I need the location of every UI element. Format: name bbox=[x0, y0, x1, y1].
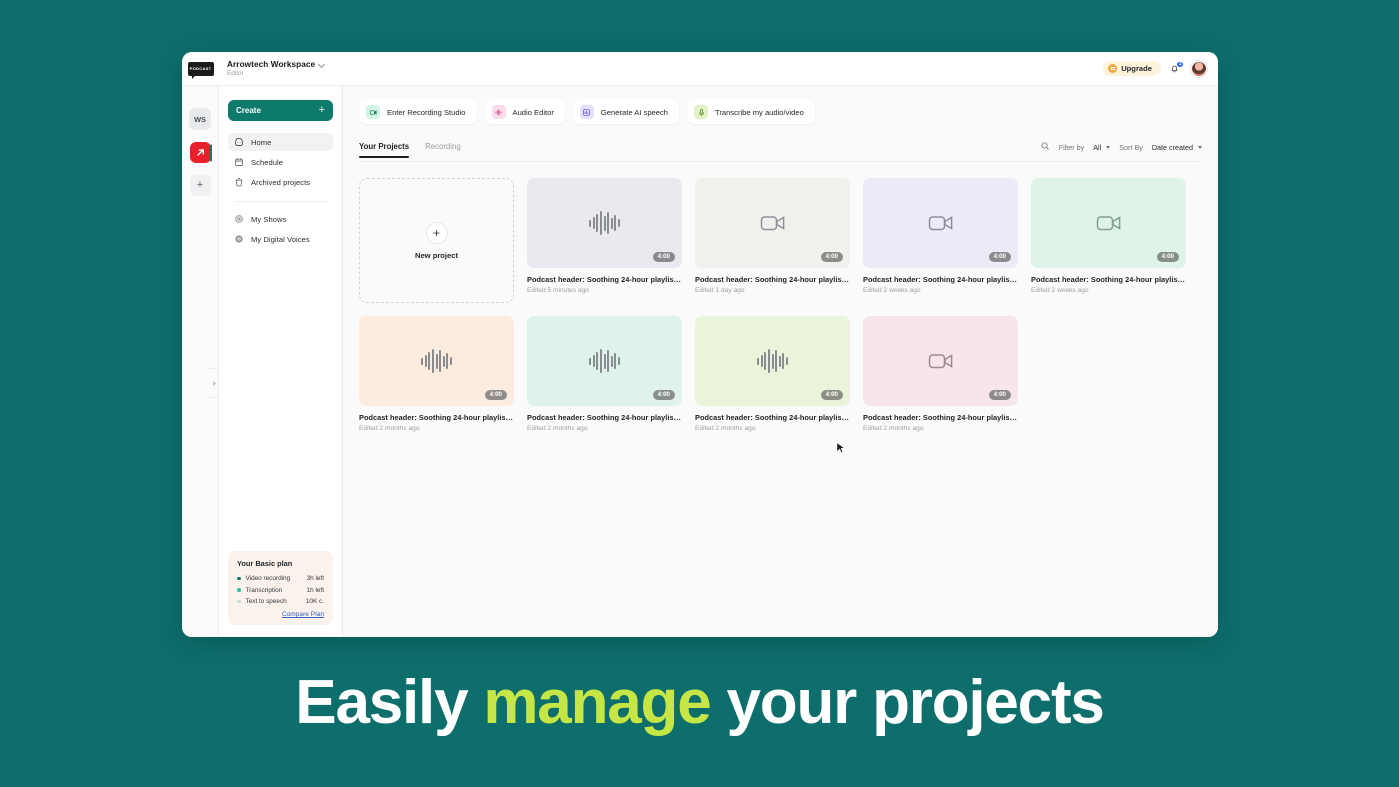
project-card[interactable]: 4:00 Podcast header: Soothing 24-hour pl… bbox=[863, 316, 1018, 432]
project-card[interactable]: 4:00 Podcast header: Soothing 24-hour pl… bbox=[359, 316, 514, 432]
project-duration-badge: 4:00 bbox=[821, 252, 843, 262]
audio-waveform-icon bbox=[589, 210, 620, 236]
project-title: Podcast header: Soothing 24-hour playlis… bbox=[863, 413, 1018, 422]
plan-status-dot bbox=[237, 588, 241, 592]
quick-actions-row: Enter Recording Studio Audio Editor bbox=[359, 100, 1202, 124]
upgrade-icon bbox=[1108, 64, 1117, 73]
podcast-logo: PODCAST bbox=[188, 62, 214, 76]
microphone-icon bbox=[694, 105, 708, 119]
video-camera-icon bbox=[1096, 214, 1122, 232]
rail-add-workspace-button[interactable]: + bbox=[190, 175, 211, 196]
plan-value: 3h left bbox=[307, 575, 324, 582]
plan-row: Text to speech 10K c. bbox=[237, 598, 324, 605]
quick-action-label: Generate AI speech bbox=[601, 108, 668, 117]
projects-grid: + New project 4:00 Podcast header: Sooth… bbox=[359, 178, 1202, 432]
filter-by-select[interactable]: All bbox=[1093, 143, 1110, 152]
tab-recording[interactable]: Recording bbox=[425, 142, 461, 157]
shows-icon bbox=[234, 214, 244, 224]
audio-waveform-icon bbox=[421, 348, 452, 374]
project-duration-badge: 4:00 bbox=[989, 390, 1011, 400]
quick-action-label: Audio Editor bbox=[513, 108, 554, 117]
sidebar-item-label: My Shows bbox=[251, 215, 286, 224]
video-camera-icon bbox=[928, 352, 954, 370]
project-thumbnail: 4:00 bbox=[359, 316, 514, 406]
plus-icon: + bbox=[319, 105, 325, 116]
workspace-switcher[interactable]: Arrowtech Workspace Editor bbox=[219, 60, 325, 77]
project-edited-time: Edited 2 months ago bbox=[359, 425, 514, 432]
rail-app-arrowtech[interactable] bbox=[190, 142, 211, 163]
project-duration-badge: 4:00 bbox=[485, 390, 507, 400]
plan-row: Video recording 3h left bbox=[237, 575, 324, 582]
sidebar-item-label: Schedule bbox=[251, 158, 283, 167]
notification-badge: 1 bbox=[1176, 61, 1184, 68]
plan-title: Your Basic plan bbox=[237, 559, 324, 568]
tagline-part1: Easily bbox=[295, 668, 483, 737]
plus-icon: + bbox=[426, 222, 448, 244]
main-content: Enter Recording Studio Audio Editor bbox=[343, 86, 1218, 637]
sidebar-item-label: My Digital Voices bbox=[251, 235, 310, 244]
sidebar-item-my-shows[interactable]: My Shows bbox=[228, 210, 333, 228]
sidebar-divider bbox=[234, 201, 327, 202]
project-thumbnail: 4:00 bbox=[863, 316, 1018, 406]
quick-action-generate-ai-speech[interactable]: Generate AI speech bbox=[573, 100, 679, 124]
project-thumbnail: 4:00 bbox=[695, 316, 850, 406]
project-edited-time: Edited 2 months ago bbox=[527, 425, 682, 432]
project-thumbnail: 4:00 bbox=[527, 178, 682, 268]
sort-by-label: Sort By bbox=[1119, 143, 1143, 152]
audio-waveform-icon bbox=[492, 105, 506, 119]
calendar-icon bbox=[234, 157, 244, 167]
audio-waveform-icon bbox=[757, 348, 788, 374]
rail-active-indicator bbox=[210, 144, 212, 161]
sort-by-value: Date created bbox=[1152, 143, 1193, 152]
audio-waveform-icon bbox=[589, 348, 620, 374]
sidebar-item-schedule[interactable]: Schedule bbox=[228, 153, 333, 171]
project-title: Podcast header: Soothing 24-hour playlis… bbox=[1031, 275, 1186, 284]
project-card[interactable]: 4:00 Podcast header: Soothing 24-hour pl… bbox=[527, 178, 682, 303]
project-card[interactable]: 4:00 Podcast header: Soothing 24-hour pl… bbox=[527, 316, 682, 432]
chevron-down-icon[interactable] bbox=[319, 62, 325, 68]
project-thumbnail: 4:00 bbox=[863, 178, 1018, 268]
notifications-button[interactable]: 1 bbox=[1169, 62, 1183, 76]
archive-icon bbox=[234, 177, 244, 187]
create-label: Create bbox=[236, 106, 261, 115]
brand-logo-slot: PODCAST bbox=[182, 52, 219, 86]
new-project-label: New project bbox=[415, 251, 458, 260]
project-title: Podcast header: Soothing 24-hour playlis… bbox=[359, 413, 514, 422]
quick-action-label: Enter Recording Studio bbox=[387, 108, 466, 117]
project-card[interactable]: 4:00 Podcast header: Soothing 24-hour pl… bbox=[695, 178, 850, 303]
sidebar-item-my-digital-voices[interactable]: My Digital Voices bbox=[228, 230, 333, 248]
plan-status-dot bbox=[237, 577, 241, 581]
sidebar-item-home[interactable]: Home bbox=[228, 133, 333, 151]
podcast-logo-text: PODCAST bbox=[190, 67, 212, 71]
project-card[interactable]: 4:00 Podcast header: Soothing 24-hour pl… bbox=[1031, 178, 1186, 303]
voice-icon bbox=[234, 234, 244, 244]
app-window: PODCAST Arrowtech Workspace Editor Upgra… bbox=[182, 52, 1218, 637]
filter-by-label: Filter by bbox=[1059, 143, 1085, 152]
user-avatar[interactable] bbox=[1191, 61, 1207, 77]
sidebar-item-label: Home bbox=[251, 138, 271, 147]
plan-label: Transcription bbox=[246, 587, 283, 594]
project-thumbnail: 4:00 bbox=[1031, 178, 1186, 268]
sidebar-collapse-handle[interactable] bbox=[208, 368, 219, 398]
upgrade-button[interactable]: Upgrade bbox=[1103, 61, 1161, 76]
filter-by-value: All bbox=[1093, 143, 1101, 152]
tagline-highlight: manage bbox=[483, 668, 710, 737]
sidebar-item-label: Archived projects bbox=[251, 178, 310, 187]
create-button[interactable]: Create + bbox=[228, 100, 333, 121]
project-edited-time: Edited 2 weeks ago bbox=[863, 287, 1018, 294]
icon-rail: WS + bbox=[182, 86, 219, 637]
chevron-down-icon bbox=[1198, 146, 1202, 149]
rail-workspace-avatar[interactable]: WS bbox=[189, 108, 211, 130]
project-title: Podcast header: Soothing 24-hour playlis… bbox=[527, 275, 682, 284]
tagline-part2: your projects bbox=[711, 668, 1104, 737]
plan-label: Text to speech bbox=[246, 598, 287, 605]
project-thumbnail: 4:00 bbox=[695, 178, 850, 268]
project-edited-time: Edited 2 months ago bbox=[863, 425, 1018, 432]
search-icon[interactable] bbox=[1040, 138, 1050, 156]
tagline: Easily manage your projects bbox=[0, 672, 1399, 734]
sidebar-item-archived-projects[interactable]: Archived projects bbox=[228, 173, 333, 191]
video-camera-icon bbox=[928, 214, 954, 232]
top-bar: PODCAST Arrowtech Workspace Editor Upgra… bbox=[182, 52, 1218, 86]
app-body: WS + Create + bbox=[182, 86, 1218, 637]
project-edited-time: Edited 1 day ago bbox=[695, 287, 850, 294]
plan-row: Transcription 1h left bbox=[237, 587, 324, 594]
project-title: Podcast header: Soothing 24-hour playlis… bbox=[695, 413, 850, 422]
compare-plan-link[interactable]: Compare Plan bbox=[237, 611, 324, 618]
top-bar-actions: Upgrade 1 bbox=[1103, 61, 1218, 77]
project-title: Podcast header: Soothing 24-hour playlis… bbox=[863, 275, 1018, 284]
tab-your-projects[interactable]: Your Projects bbox=[359, 142, 409, 157]
project-duration-badge: 4:00 bbox=[821, 390, 843, 400]
project-duration-badge: 4:00 bbox=[989, 252, 1011, 262]
project-title: Podcast header: Soothing 24-hour playlis… bbox=[527, 413, 682, 422]
workspace-role: Editor bbox=[227, 70, 325, 77]
project-thumbnail: 4:00 bbox=[527, 316, 682, 406]
sidebar: Create + Home bbox=[219, 86, 343, 637]
project-title: Podcast header: Soothing 24-hour playlis… bbox=[695, 275, 850, 284]
mouse-cursor bbox=[836, 442, 846, 455]
project-edited-time: Edited 2 months ago bbox=[695, 425, 850, 432]
project-card[interactable]: 4:00 Podcast header: Soothing 24-hour pl… bbox=[863, 178, 1018, 303]
plan-label: Video recording bbox=[246, 575, 291, 582]
project-edited-time: Edited 5 minutes ago bbox=[527, 287, 682, 294]
video-camera-icon bbox=[760, 214, 786, 232]
quick-action-transcribe-my-audio-video[interactable]: Transcribe my audio/video bbox=[687, 100, 815, 124]
ai-speech-icon bbox=[580, 105, 594, 119]
toolbar: Filter by All Sort By Date created bbox=[1040, 138, 1202, 161]
quick-action-audio-editor[interactable]: Audio Editor bbox=[485, 100, 565, 124]
arrow-up-right-icon bbox=[195, 147, 206, 158]
quick-action-label: Transcribe my audio/video bbox=[715, 108, 804, 117]
plan-card: Your Basic plan Video recording 3h left … bbox=[228, 551, 333, 625]
project-duration-badge: 4:00 bbox=[653, 252, 675, 262]
project-duration-badge: 4:00 bbox=[1157, 252, 1179, 262]
new-project-card[interactable]: + New project bbox=[359, 178, 514, 303]
plan-value: 10K c. bbox=[306, 598, 324, 605]
project-card[interactable]: 4:00 Podcast header: Soothing 24-hour pl… bbox=[695, 316, 850, 432]
sort-by-select[interactable]: Date created bbox=[1152, 143, 1202, 152]
project-duration-badge: 4:00 bbox=[653, 390, 675, 400]
quick-action-enter-recording-studio[interactable]: Enter Recording Studio bbox=[359, 100, 477, 124]
plan-status-dot bbox=[237, 600, 241, 604]
video-camera-icon bbox=[366, 105, 380, 119]
home-icon bbox=[234, 137, 244, 147]
workspace-name: Arrowtech Workspace bbox=[227, 60, 315, 69]
chevron-down-icon bbox=[1106, 146, 1110, 149]
upgrade-label: Upgrade bbox=[1121, 64, 1152, 73]
plan-value: 1h left bbox=[307, 587, 324, 594]
project-edited-time: Edited 2 weeks ago bbox=[1031, 287, 1186, 294]
tabs-row: Your Projects Recording Filter by All So… bbox=[359, 138, 1202, 162]
